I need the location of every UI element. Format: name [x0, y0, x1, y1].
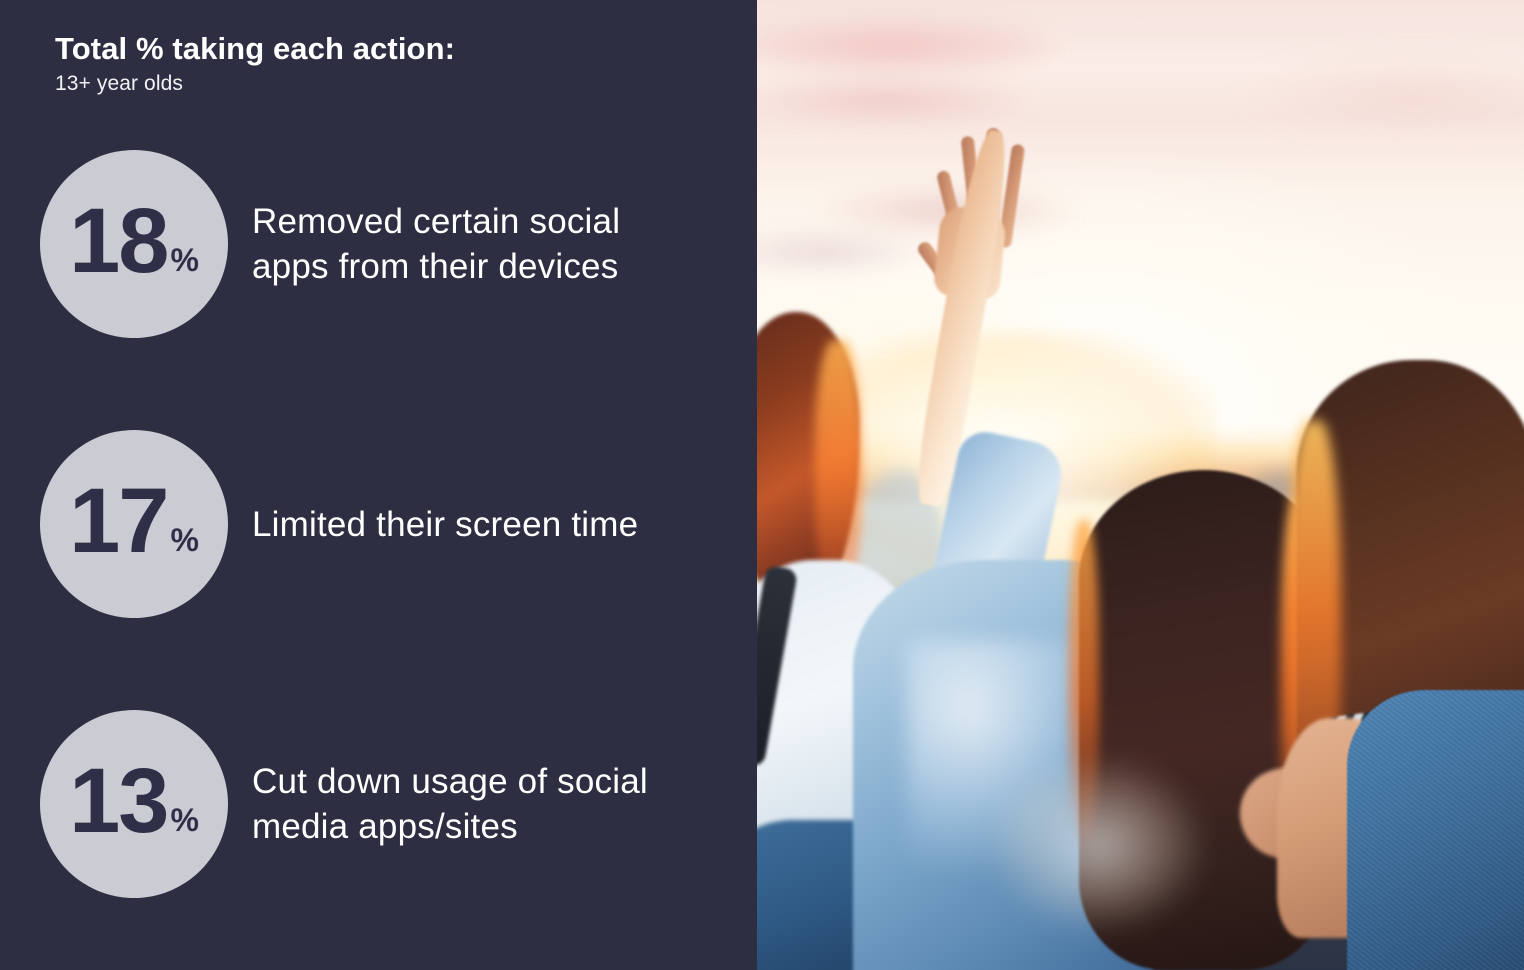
sun-glow	[797, 330, 1217, 580]
stat-item: 18 % Removed certain social apps from th…	[0, 150, 757, 338]
percent-symbol: %	[170, 244, 198, 276]
horizon-band	[757, 430, 1524, 500]
stat-value-group: 17 %	[69, 484, 199, 559]
stat-value-group: 13 %	[69, 764, 199, 839]
left-person-hair-rimlight	[815, 340, 861, 600]
infographic-root: Total % taking each action: 13+ year old…	[0, 0, 1524, 970]
hand-thumb	[915, 239, 960, 294]
hand-finger	[961, 136, 985, 241]
stat-label: Cut down usage of social media apps/site…	[252, 759, 682, 849]
cloud-wisp	[757, 78, 1037, 122]
percent-symbol: %	[170, 524, 198, 556]
stat-value: 18	[69, 204, 167, 279]
bare-shoulder	[1277, 718, 1397, 938]
stat-circle: 18 %	[40, 150, 228, 338]
right-hair-rimlight	[1287, 420, 1341, 850]
distant-figure	[1227, 470, 1337, 600]
lens-flare	[993, 760, 1203, 930]
backpack-strap	[757, 565, 798, 768]
photo-grain	[757, 0, 1524, 970]
page-subtitle: 13+ year olds	[55, 70, 715, 98]
arm-around-shoulder	[1232, 743, 1417, 866]
right-person-hair	[1297, 360, 1524, 920]
left-person-shirt	[757, 560, 927, 970]
center-hair-rimlight-right	[1281, 500, 1325, 880]
sunset-sky	[757, 0, 1524, 970]
striped-top	[1321, 706, 1429, 838]
distant-figure	[855, 470, 945, 620]
cloud-wisp	[757, 232, 927, 272]
raised-arm	[910, 127, 1015, 508]
stat-value-group: 18 %	[69, 204, 199, 279]
left-person-denim	[757, 820, 907, 970]
stat-item: 17 % Limited their screen time	[0, 430, 757, 618]
cloud-wisp	[1244, 60, 1524, 130]
hand-finger	[985, 128, 1000, 240]
stats-panel: Total % taking each action: 13+ year old…	[0, 0, 757, 970]
stat-label: Removed certain social apps from their d…	[252, 199, 682, 289]
stat-value: 17	[69, 484, 167, 559]
percent-symbol: %	[170, 804, 198, 836]
hand-finger	[936, 170, 967, 249]
stat-list: 18 % Removed certain social apps from th…	[0, 150, 757, 898]
center-person-denim-jacket	[853, 560, 1153, 970]
header: Total % taking each action: 13+ year old…	[55, 30, 715, 98]
stat-item: 13 % Cut down usage of social media apps…	[0, 710, 757, 898]
cloud-wisp	[817, 188, 1077, 234]
denim-sleeve	[924, 427, 1067, 635]
stat-circle: 13 %	[40, 710, 228, 898]
stat-label: Limited their screen time	[252, 502, 638, 547]
center-person-hair	[1079, 470, 1329, 970]
cloud-wisp	[757, 18, 1057, 76]
stat-value: 13	[69, 764, 167, 839]
left-person-hair	[757, 312, 859, 612]
page-title: Total % taking each action:	[55, 30, 715, 68]
hand-finger	[998, 144, 1025, 249]
denim-highlight	[907, 640, 1117, 870]
hero-photo	[757, 0, 1524, 970]
blue-knit-sweater	[1347, 690, 1524, 970]
stat-circle: 17 %	[40, 430, 228, 618]
hand-palm	[932, 205, 1007, 301]
center-hair-rimlight-left	[1069, 520, 1099, 840]
